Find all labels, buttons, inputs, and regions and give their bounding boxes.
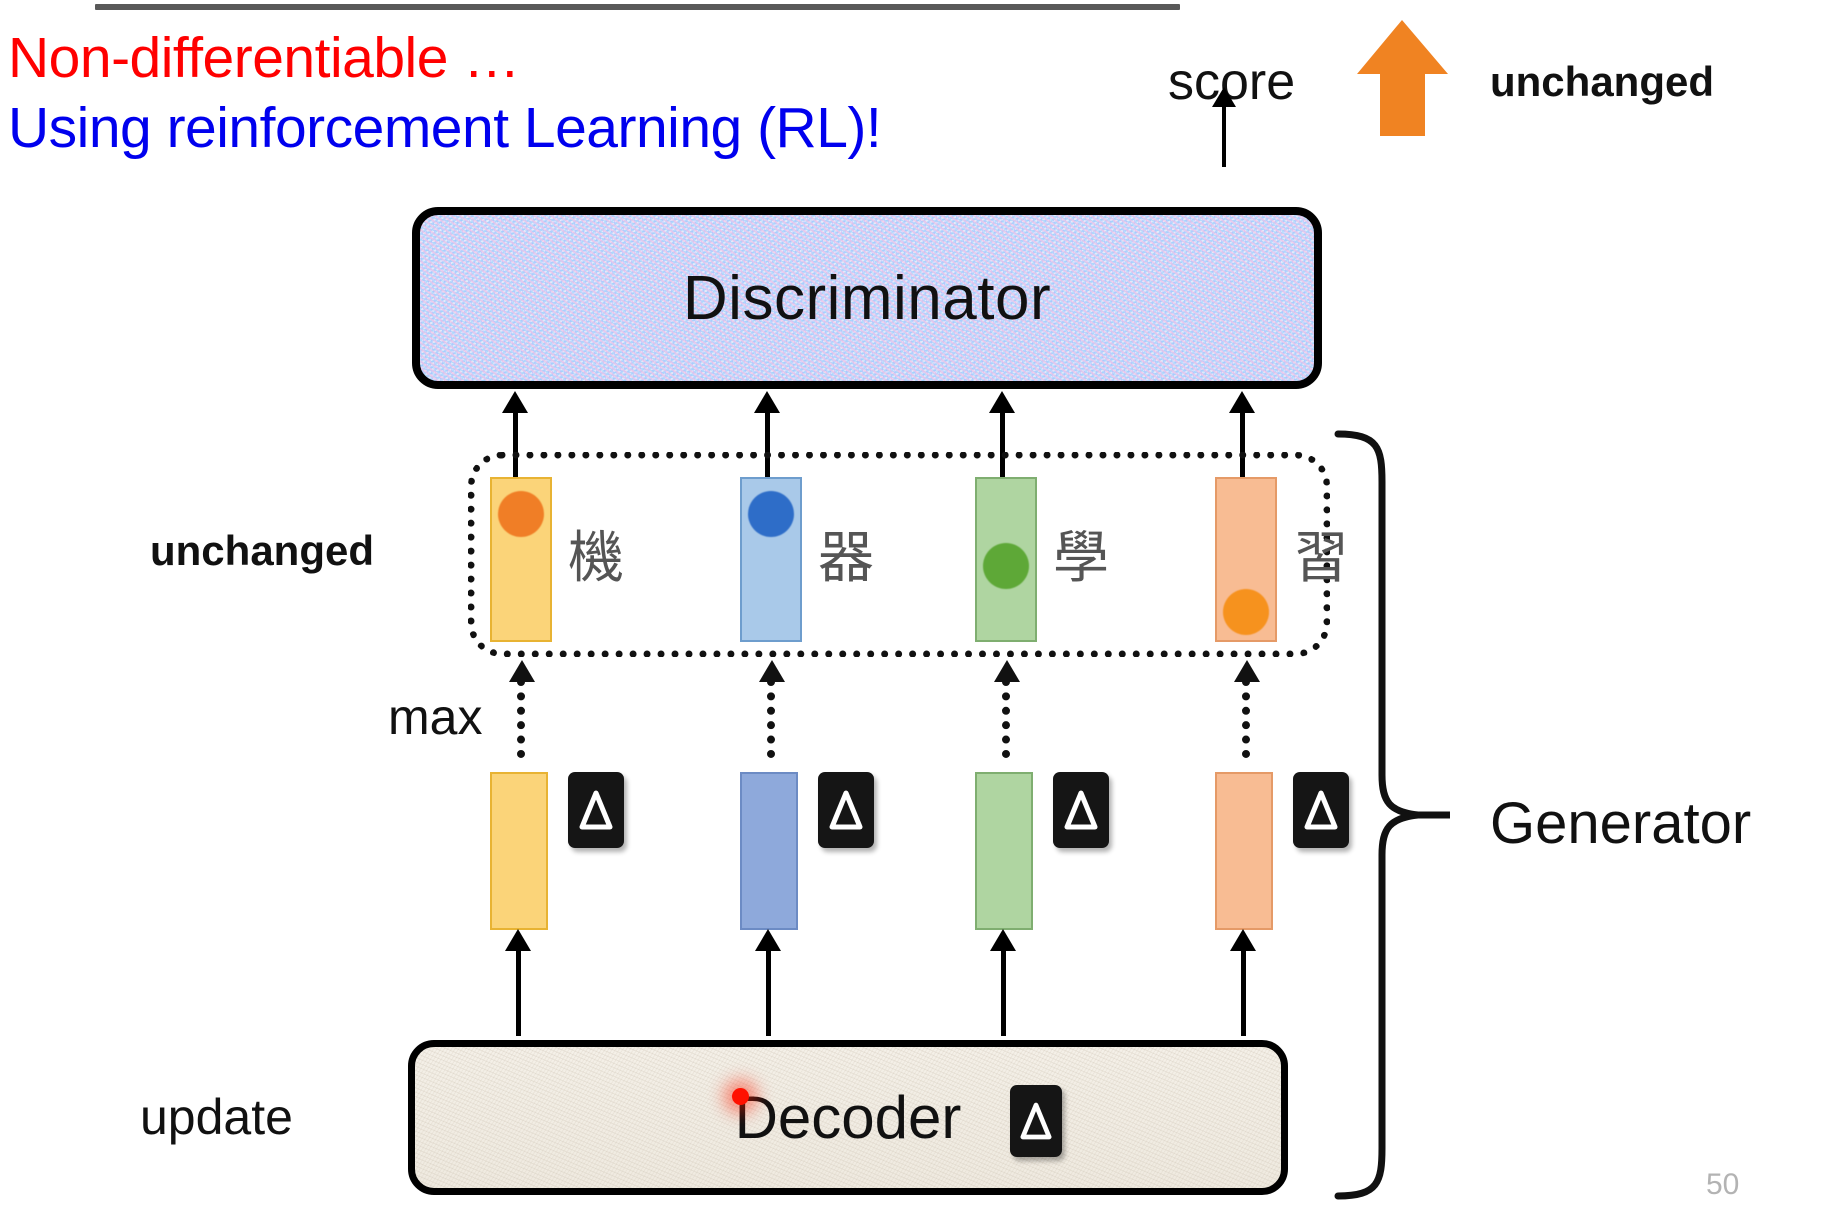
discriminator-box: Discriminator (412, 207, 1322, 389)
decoder-to-distribution-arrow-3 (1001, 948, 1006, 1036)
max-sample-arrow-2 (767, 678, 775, 758)
score-arrow-icon (1222, 105, 1226, 167)
token-4: 習 (1215, 477, 1277, 642)
generator-label: Generator (1490, 790, 1751, 857)
distribution-bar-4 (1215, 772, 1273, 930)
unchanged-top-label: unchanged (1490, 58, 1714, 106)
token-3: 學 (975, 477, 1037, 642)
token-char-1: 機 (568, 513, 624, 594)
decoder-label: Decoder (735, 1083, 962, 1152)
max-sample-arrow-3 (1002, 678, 1010, 758)
distribution-4 (1215, 772, 1273, 930)
token-dot-1 (498, 491, 544, 537)
unchanged-left-label: unchanged (150, 527, 374, 575)
header-divider (95, 4, 1180, 10)
delta-icon-1 (568, 772, 624, 848)
generator-brace-icon (1330, 430, 1450, 1200)
token-dot-2 (748, 491, 794, 537)
page-number: 50 (1706, 1168, 1739, 1202)
delta-icon-2 (818, 772, 874, 848)
decoder-to-distribution-arrow-4 (1241, 948, 1246, 1036)
decoder-box: Decoder (408, 1040, 1288, 1195)
delta-icon-3 (1053, 772, 1109, 848)
red-led-icon (732, 1088, 749, 1105)
token-char-3: 學 (1053, 513, 1109, 594)
max-label: max (388, 688, 482, 746)
distribution-1 (490, 772, 548, 930)
up-arrow-icon (1355, 18, 1450, 138)
token-dot-3 (983, 543, 1029, 589)
token-char-2: 器 (818, 513, 874, 594)
token-dot-4 (1223, 589, 1269, 635)
slide-canvas: Non-differentiable … Using reinforcement… (0, 0, 1840, 1225)
distribution-2 (740, 772, 798, 930)
token-1: 機 (490, 477, 552, 642)
discriminator-label: Discriminator (683, 263, 1051, 334)
distribution-bar-1 (490, 772, 548, 930)
token-2: 器 (740, 477, 802, 642)
distribution-bar-3 (975, 772, 1033, 930)
decoder-to-distribution-arrow-2 (766, 948, 771, 1036)
distribution-3 (975, 772, 1033, 930)
headline-line-1: Non-differentiable … (8, 30, 520, 87)
max-sample-arrow-4 (1242, 678, 1250, 758)
decoder-to-distribution-arrow-1 (516, 948, 521, 1036)
delta-icon-decoder (1010, 1085, 1062, 1157)
headline-line-2: Using reinforcement Learning (RL)! (8, 100, 881, 157)
distribution-bar-2 (740, 772, 798, 930)
max-sample-arrow-1 (517, 678, 525, 758)
update-label: update (140, 1088, 293, 1146)
